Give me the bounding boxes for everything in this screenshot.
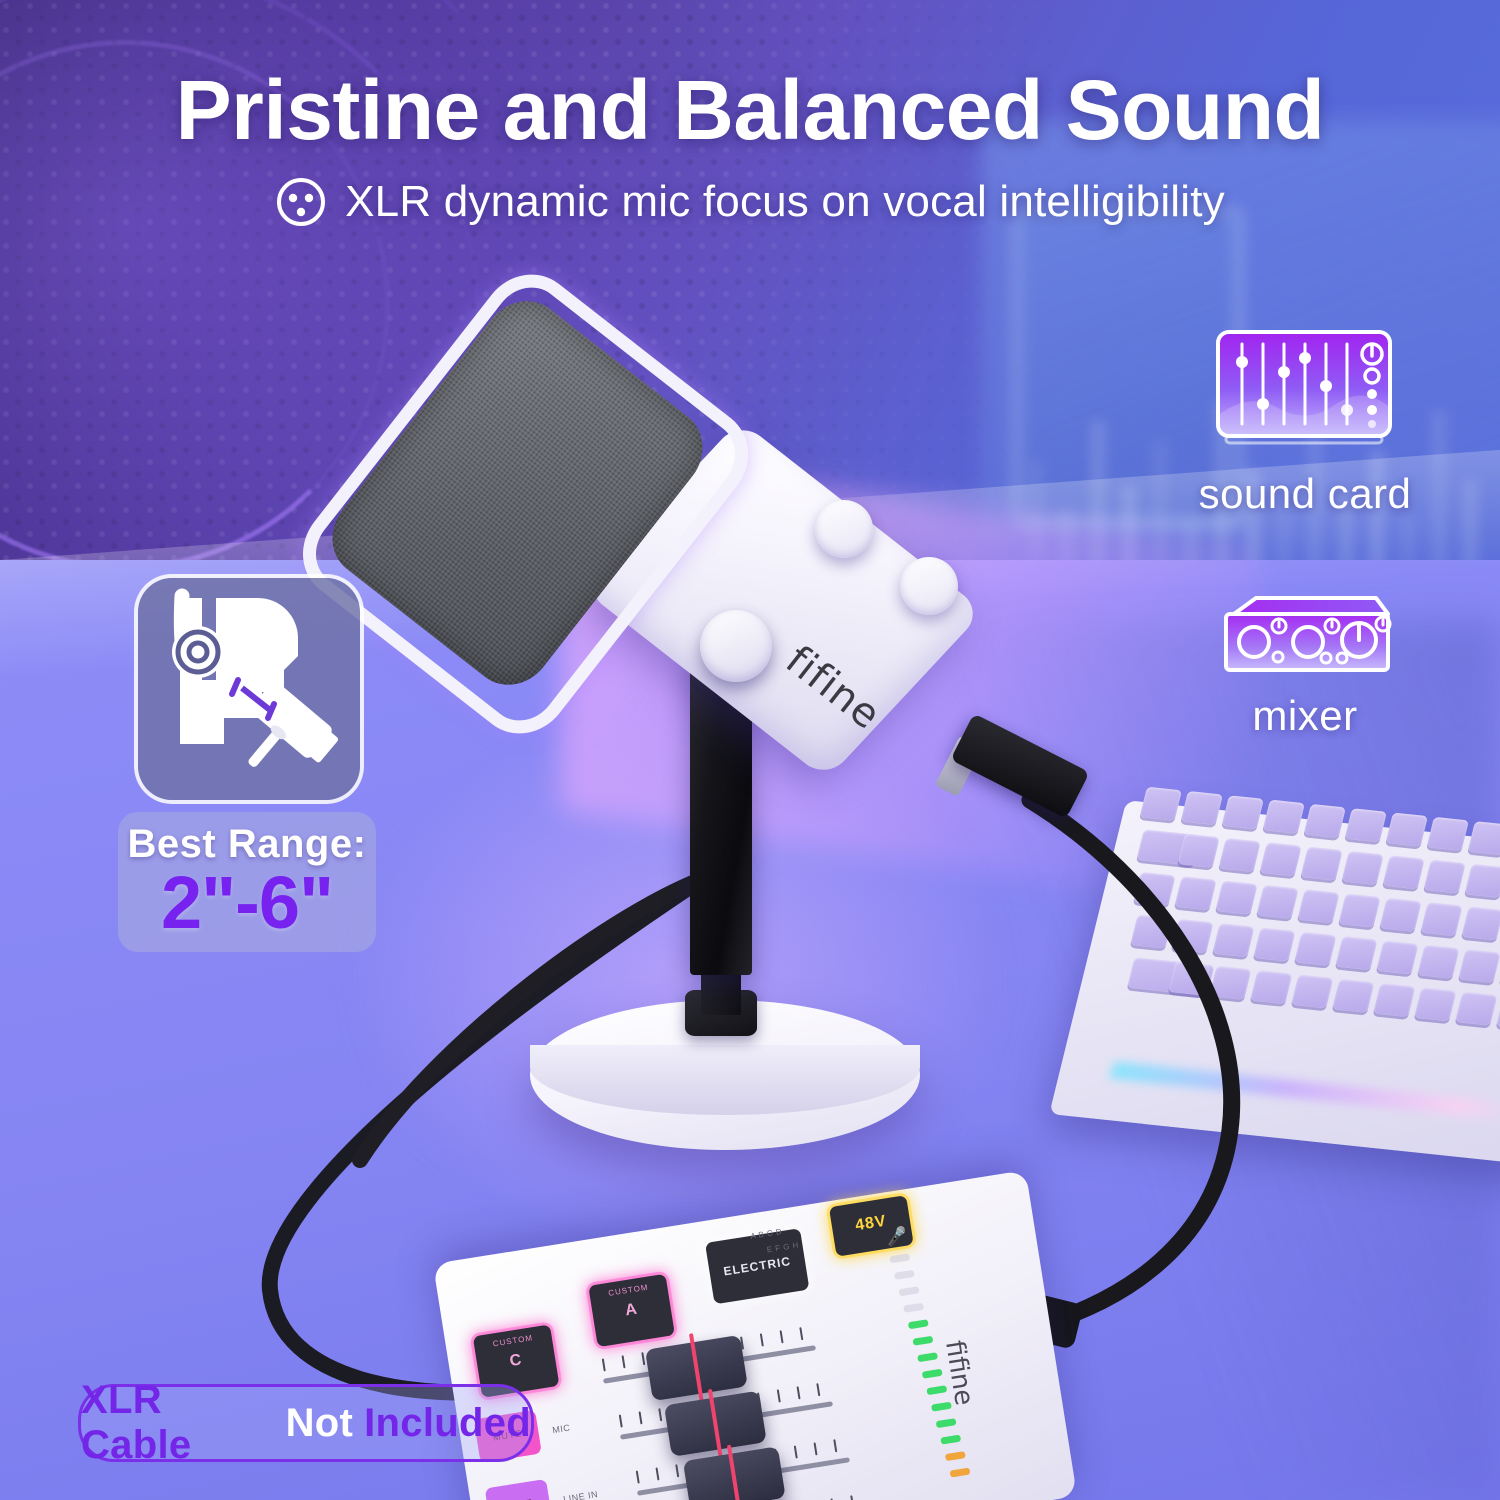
mixer-fader-tick xyxy=(619,1414,623,1427)
mixer-fader-tick xyxy=(622,1355,626,1368)
xlr-3pin-icon xyxy=(275,176,327,228)
mixer-level-led xyxy=(889,1253,910,1263)
mixer-fader-tick xyxy=(816,1383,820,1396)
mixer-fader-tick xyxy=(797,1386,801,1399)
mixer-level-led xyxy=(940,1435,961,1445)
mixer-fader-tick xyxy=(799,1327,803,1340)
product-marketing-image: fifine CUSTOMCCUSTOMAELECTRIC48VMUTEMUTE… xyxy=(0,0,1500,1500)
mixer-mute-button[interactable]: MUTE xyxy=(485,1479,553,1500)
mixer-fader-tick xyxy=(655,1467,659,1480)
mixer-fader-tick xyxy=(814,1442,818,1455)
mixer-fader-tick xyxy=(658,1408,662,1421)
mixer-pad-value: ELECTRIC xyxy=(709,1252,806,1281)
mixer-level-led xyxy=(945,1451,966,1461)
mixer-level-led xyxy=(926,1385,947,1395)
mixer-level-led xyxy=(922,1369,943,1379)
subtitle-row: XLR dynamic mic focus on vocal intelligi… xyxy=(0,176,1500,228)
mic-volume-knob xyxy=(900,557,958,615)
mixer-icon-wrap xyxy=(1216,592,1398,696)
mixer-level-led xyxy=(894,1270,915,1280)
best-range-label: Best Range: xyxy=(128,824,367,864)
mixer-level-led xyxy=(913,1336,934,1346)
mixer-fader-tick xyxy=(641,1352,645,1365)
mic-tilt-screw xyxy=(700,610,772,682)
mixer-fader-tick xyxy=(850,1495,854,1500)
mic-gain-knob xyxy=(815,500,873,558)
mixer-fader-tick xyxy=(794,1445,798,1458)
xlr-cable-not-included-badge: XLR Cable Not Included xyxy=(78,1384,534,1462)
mixer-fader-tick xyxy=(636,1470,640,1483)
mixer-mic-icon: 🎤 xyxy=(885,1225,909,1248)
mixer-mute-label: MUTE xyxy=(487,1495,550,1500)
mixer-fader-tick xyxy=(780,1330,784,1343)
sound-card-icon-wrap xyxy=(1214,328,1394,448)
badge-text-part1: XLR Cable xyxy=(81,1378,275,1468)
mixer-level-led xyxy=(936,1418,957,1428)
mixer-level-led xyxy=(908,1319,929,1329)
badge-text-part3: Included xyxy=(364,1401,531,1446)
head-with-headphones-speaking-into-mic-icon xyxy=(138,578,360,800)
mixer-fader-tick xyxy=(760,1333,764,1346)
mixer-box-knobs-icon xyxy=(1216,592,1398,696)
mixer-pad-value: C xyxy=(476,1346,556,1376)
mixer-fader-knob[interactable] xyxy=(645,1335,748,1401)
mixer-channel-label: LINE IN xyxy=(563,1489,599,1500)
sound-card-sliders-icon xyxy=(1214,328,1394,448)
mixer-brand-logo: fifine xyxy=(939,1338,979,1407)
mixer-label: mixer xyxy=(1150,692,1460,740)
mixer-level-led xyxy=(903,1303,924,1313)
mixer-pad[interactable]: CUSTOMA xyxy=(588,1274,675,1347)
mixer-fader-tick xyxy=(639,1411,643,1424)
page-subtitle: XLR dynamic mic focus on vocal intelligi… xyxy=(345,177,1225,227)
mixer-fader-knob[interactable] xyxy=(664,1391,767,1457)
mixer-channel-label: MIC xyxy=(552,1423,571,1436)
sound-card-label: sound card xyxy=(1150,470,1460,518)
mixer-pad-value: A xyxy=(592,1295,672,1325)
mixer-level-led xyxy=(917,1352,938,1362)
badge-text-part2: Not xyxy=(286,1401,354,1446)
mechanical-keyboard xyxy=(1070,756,1500,1224)
mixer-fader-tick xyxy=(833,1439,837,1452)
best-range-badge: Best Range: 2"-6" xyxy=(118,812,376,952)
mixer-level-led xyxy=(950,1468,971,1478)
mixer-level-led xyxy=(899,1286,920,1296)
fifine-xlr-microphone: fifine xyxy=(360,300,1060,860)
mixer-fader-tick xyxy=(675,1464,679,1477)
best-range-icon-tile xyxy=(138,578,360,800)
mixer-fader-tick xyxy=(777,1389,781,1402)
best-range-value: 2"-6" xyxy=(161,866,333,940)
mixer-fader-knob[interactable] xyxy=(683,1446,786,1500)
mixer-fader-tick xyxy=(602,1358,606,1371)
page-title: Pristine and Balanced Sound xyxy=(0,62,1500,159)
